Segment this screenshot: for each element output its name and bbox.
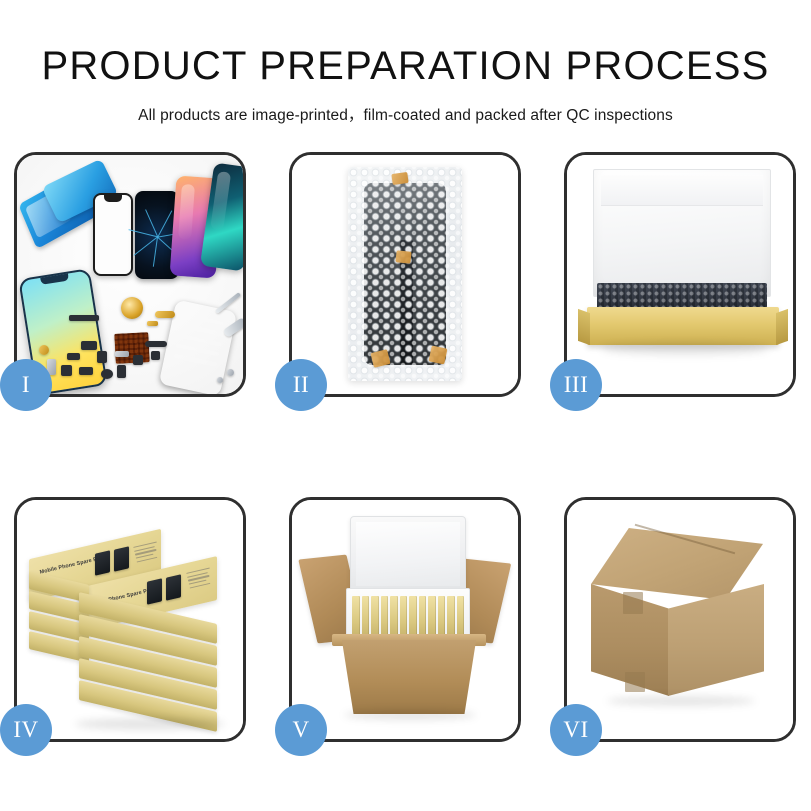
step-6-image bbox=[567, 500, 793, 739]
process-step-panel-1[interactable]: I bbox=[14, 152, 246, 397]
tape-piece-middle-icon bbox=[395, 250, 411, 264]
process-step-panel-4[interactable]: Mobile Phone Spare Parts Mobile Phone Sp… bbox=[14, 497, 246, 742]
spare-parts-scene bbox=[17, 155, 243, 394]
step-2-image bbox=[292, 155, 518, 394]
process-step-panel-6[interactable]: VI bbox=[564, 497, 796, 742]
sealed-carton-scene bbox=[567, 500, 793, 739]
step-1-image bbox=[17, 155, 243, 394]
carton-tape-upper-icon bbox=[623, 592, 643, 614]
step-badge-2: II bbox=[275, 359, 327, 411]
page-title: PRODUCT PREPARATION PROCESS bbox=[41, 46, 769, 86]
white-box-lid-icon bbox=[593, 169, 771, 297]
boxed-stack-scene: Mobile Phone Spare Parts Mobile Phone Sp… bbox=[17, 500, 243, 739]
bubble-wrap-scene bbox=[292, 155, 518, 394]
process-step-panel-3[interactable]: III bbox=[564, 152, 796, 397]
chip-array-icon bbox=[114, 332, 150, 364]
foam-lid-icon bbox=[350, 516, 466, 592]
step-4-image: Mobile Phone Spare Parts Mobile Phone Sp… bbox=[17, 500, 243, 739]
step-badge-5: V bbox=[275, 704, 327, 756]
tape-piece-top-icon bbox=[391, 172, 408, 185]
box-stack-icon: Mobile Phone Spare Parts Mobile Phone Sp… bbox=[25, 518, 237, 728]
header: PRODUCT PREPARATION PROCESS All products… bbox=[0, 0, 811, 140]
carton-tape-lower-icon bbox=[625, 672, 645, 692]
foam-carton-scene bbox=[292, 500, 518, 739]
carton-front-icon bbox=[336, 640, 482, 714]
step-badge-1: I bbox=[0, 359, 52, 411]
step-badge-4: IV bbox=[0, 704, 52, 756]
step-badge-6: VI bbox=[550, 704, 602, 756]
tape-piece-lower-right-icon bbox=[429, 346, 448, 365]
carton-right-face-icon bbox=[668, 584, 764, 696]
process-step-panel-2[interactable]: II bbox=[289, 152, 521, 397]
step-5-image bbox=[292, 500, 518, 739]
inner-box-scene bbox=[567, 155, 793, 394]
carton-top-face-icon bbox=[591, 528, 763, 600]
process-step-panel-5[interactable]: V bbox=[289, 497, 521, 742]
gold-coil-icon bbox=[121, 297, 143, 319]
page-subtitle: All products are image-printed，film-coat… bbox=[138, 103, 673, 125]
product-preparation-infographic: PRODUCT PREPARATION PROCESS All products… bbox=[0, 0, 811, 811]
process-step-grid: I II bbox=[14, 152, 797, 797]
step-3-image bbox=[567, 155, 793, 394]
white-screen-glass-icon bbox=[93, 193, 133, 276]
step-badge-3: III bbox=[550, 359, 602, 411]
kraft-box-base-icon bbox=[587, 307, 779, 345]
